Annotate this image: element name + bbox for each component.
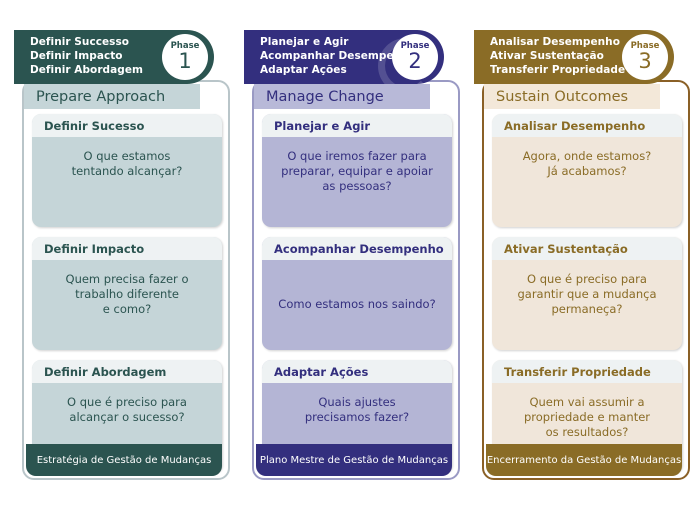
phase-badge-3: Phase 3 xyxy=(622,34,668,80)
phase-card-question: Quem precisa fazer o trabalho diferente … xyxy=(32,260,222,350)
phase-card-title: Definir Impacto xyxy=(32,237,222,260)
phase-column-2: Planejar e Agir Acompanhar Desempenho Ad… xyxy=(244,0,462,508)
phase-card-title: Acompanhar Desempenho xyxy=(262,237,452,260)
phase-card-title: Analisar Desempenho xyxy=(492,114,682,137)
phase-card[interactable]: Definir Impacto Quem precisa fazer o tra… xyxy=(32,237,222,350)
phase-card-title: Adaptar Ações xyxy=(262,360,452,383)
phase-card-title: Transferir Propriedade xyxy=(492,360,682,383)
phase-header-3: Analisar Desempenho Ativar Sustentação T… xyxy=(474,30,674,84)
phase-footer-2: Plano Mestre de Gestão de Mudanças xyxy=(256,444,452,476)
phase-card-question: O que estamos tentando alcançar? xyxy=(32,137,222,227)
phase-card-stack-2: Planejar e Agir O que iremos fazer para … xyxy=(262,114,452,483)
phase-card-question: Como estamos nos saindo? xyxy=(262,260,452,350)
phase-title: Sustain Outcomes xyxy=(496,89,628,105)
phase-column-3: Analisar Desempenho Ativar Sustentação T… xyxy=(474,0,692,508)
phase-header-2: Planejar e Agir Acompanhar Desempenho Ad… xyxy=(244,30,444,84)
phase-card[interactable]: Analisar Desempenho Agora, onde estamos?… xyxy=(492,114,682,227)
phase-footer-3: Encerramento da Gestão de Mudanças xyxy=(486,444,682,476)
phase-card-question: O que iremos fazer para preparar, equipa… xyxy=(262,137,452,227)
phase-footer-label: Estratégia de Gestão de Mudanças xyxy=(37,455,212,466)
phase-badge-number: 2 xyxy=(408,50,421,72)
change-management-diagram: Definir Successo Definir Impacto Definir… xyxy=(0,0,700,508)
phase-title-band-1: Prepare Approach xyxy=(24,84,200,109)
phase-card-question: Agora, onde estamos? Já acabamos? xyxy=(492,137,682,227)
phase-title-band-3: Sustain Outcomes xyxy=(484,84,660,109)
phase-card[interactable]: Ativar Sustentação O que é preciso para … xyxy=(492,237,682,350)
phase-badge-1: Phase 1 xyxy=(162,34,208,80)
phase-card[interactable]: Planejar e Agir O que iremos fazer para … xyxy=(262,114,452,227)
phase-badge-number: 1 xyxy=(178,50,191,72)
phase-card-title: Definir Sucesso xyxy=(32,114,222,137)
phase-card-title: Ativar Sustentação xyxy=(492,237,682,260)
phase-footer-1: Estratégia de Gestão de Mudanças xyxy=(26,444,222,476)
phase-card[interactable]: Acompanhar Desempenho Como estamos nos s… xyxy=(262,237,452,350)
phase-card-title: Planejar e Agir xyxy=(262,114,452,137)
phase-title: Manage Change xyxy=(266,89,384,105)
phase-column-1: Definir Successo Definir Impacto Definir… xyxy=(14,0,232,508)
phase-footer-label: Encerramento da Gestão de Mudanças xyxy=(487,455,681,466)
phase-card-question: O que é preciso para garantir que a muda… xyxy=(492,260,682,350)
phase-card-stack-3: Analisar Desempenho Agora, onde estamos?… xyxy=(492,114,682,483)
phase-title-band-2: Manage Change xyxy=(254,84,430,109)
phase-header-1: Definir Successo Definir Impacto Definir… xyxy=(14,30,214,84)
phase-footer-label: Plano Mestre de Gestão de Mudanças xyxy=(260,455,448,466)
phase-card-stack-1: Definir Sucesso O que estamos tentando a… xyxy=(32,114,222,483)
phase-badge-number: 3 xyxy=(638,50,651,72)
phase-card-title: Definir Abordagem xyxy=(32,360,222,383)
phase-title: Prepare Approach xyxy=(36,89,165,105)
phase-card[interactable]: Definir Sucesso O que estamos tentando a… xyxy=(32,114,222,227)
phase-badge-2: Phase 2 xyxy=(392,34,438,80)
